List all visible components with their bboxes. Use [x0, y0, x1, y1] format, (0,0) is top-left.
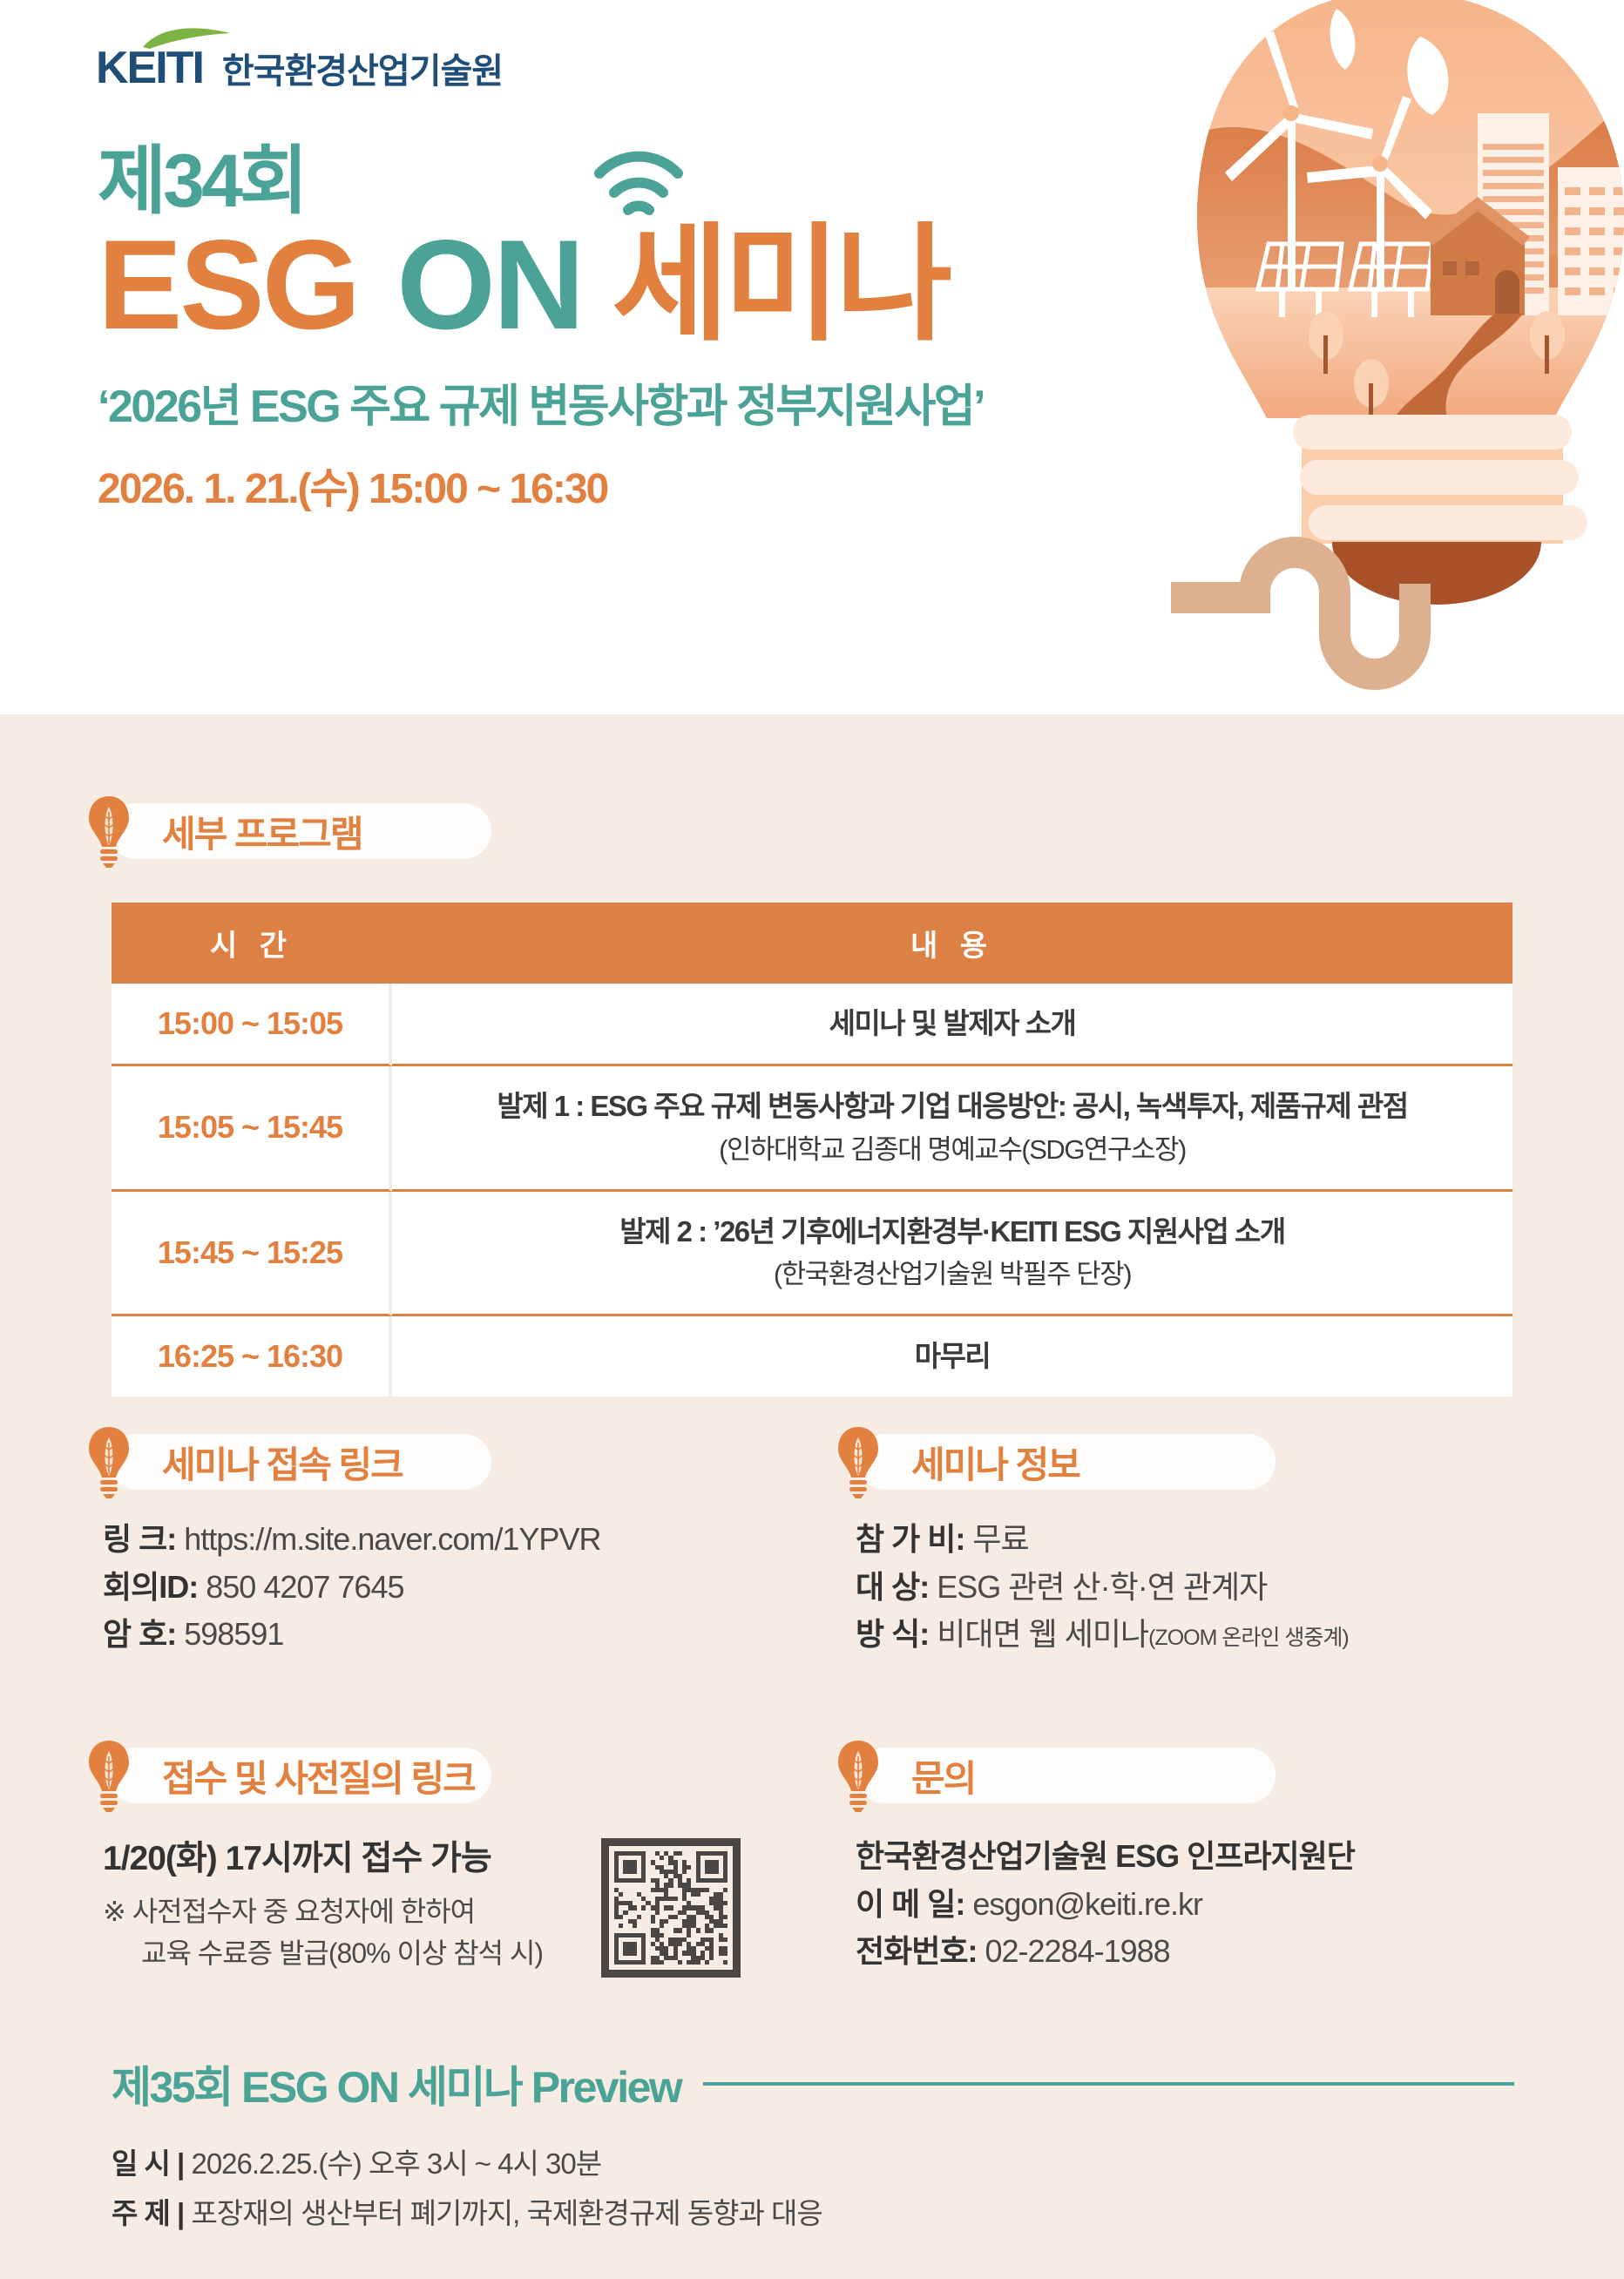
title-seminar: 세미나: [612, 222, 947, 347]
preview-date-row: 일 시 | 2026.2.25.(수) 오후 3시 ~ 4시 30분: [112, 2140, 1514, 2189]
contact-phone-label: 전화번호: [856, 1933, 967, 1969]
target-value: ESG 관련 산·학·연 관계자: [937, 1569, 1267, 1605]
registration-section-header: 접수 및 사전질의 링크: [85, 1739, 491, 1812]
contact-section-title: 문의: [911, 1749, 975, 1802]
contact-phone-value: 02-2284-1988: [985, 1933, 1169, 1969]
row-desc-main: 발제 1 : ESG 주요 규제 변동사항과 기업 대응방안: 공시, 녹색투자…: [497, 1090, 1407, 1122]
program-section-title: 세부 프로그램: [162, 805, 362, 858]
method-note: (ZOOM 온라인 생중계): [1148, 1626, 1349, 1650]
access-meeting-id-row: 회의ID: 850 4207 7645: [103, 1564, 600, 1612]
registration-note-line1: ※ 사전접수자 중 요청자에 한하여: [103, 1890, 543, 1932]
qr-inner: [609, 1846, 733, 1970]
registration-section-title: 접수 및 사전질의 링크: [162, 1749, 475, 1802]
table-header-row: 시 간 내 용: [112, 903, 1512, 984]
row-desc: 발제 2 : ’26년 기후에너지환경부·KEITI ESG 지원사업 소개 (…: [392, 1192, 1512, 1317]
access-link-value[interactable]: https://m.site.naver.com/1YPVR: [184, 1521, 600, 1557]
method-row: 방 식: 비대면 웹 세미나(ZOOM 온라인 생중계): [856, 1611, 1349, 1659]
row-time: 15:00 ~ 15:05: [112, 984, 392, 1066]
preview-topic-value: 포장재의 생산부터 폐기까지, 국제환경규제 동향과 대응: [191, 2197, 822, 2229]
access-meeting-id-value: 850 4207 7645: [206, 1569, 403, 1605]
access-section-title: 세미나 접속 링크: [162, 1436, 403, 1489]
hero-title-block: 제34회 ESG ON 세미나 ‘2026년 ESG 주요 규제 변동사항과 정…: [98, 144, 984, 515]
header-content: 내 용: [392, 903, 1512, 984]
lightbulb-icon: [85, 795, 132, 868]
qr-grid: [614, 1851, 727, 1965]
table-row: 15:05 ~ 15:45 발제 1 : ESG 주요 규제 변동사항과 기업 …: [112, 1066, 1512, 1192]
access-link-label: 링 크: [103, 1521, 166, 1557]
access-link-row: 링 크: https://m.site.naver.com/1YPVR: [103, 1516, 600, 1564]
registration-note: ※ 사전접수자 중 요청자에 한하여 교육 수료증 발급(80% 이상 참석 시…: [103, 1890, 543, 1974]
access-password-value: 598591: [184, 1616, 283, 1652]
row-time: 15:45 ~ 15:25: [112, 1192, 392, 1317]
hero-datetime: 2026. 1. 21.(수) 15:00 ~ 16:30: [98, 454, 984, 515]
fee-row: 참 가 비: 무료: [856, 1516, 1349, 1564]
keiti-logo-text: KEITI: [96, 45, 203, 91]
preview-topic-label: 주 제: [112, 2197, 170, 2229]
lightbulb-icon: [835, 1739, 882, 1812]
seminar-info-details: 참 가 비: 무료 대 상: ESG 관련 산·학·연 관계자 방 식: 비대면…: [856, 1516, 1349, 1659]
preview-section: 제35회 ESG ON 세미나 Preview 일 시 | 2026.2.25.…: [112, 2052, 1514, 2239]
contact-phone-row: 전화번호: 02-2284-1988: [856, 1928, 1355, 1976]
keiti-logo-korean: 한국환경산업기술원: [222, 54, 503, 91]
lightbulb-icon: [85, 1425, 132, 1498]
row-desc-main: 세미나 및 발제자 소개: [829, 1007, 1076, 1039]
fee-label: 참 가 비: [856, 1521, 955, 1557]
access-details: 링 크: https://m.site.naver.com/1YPVR 회의ID…: [103, 1516, 600, 1659]
title-esg: ESG: [98, 222, 358, 347]
contact-email-row: 이 메 일: esgon@keiti.re.kr: [856, 1881, 1355, 1929]
row-desc: 세미나 및 발제자 소개: [392, 984, 1512, 1066]
title-on: ON: [396, 222, 582, 347]
access-password-row: 암 호: 598591: [103, 1611, 600, 1659]
wifi-signal-icon: [591, 139, 687, 222]
hero-banner: KEITI 한국환경산업기술원 제34회 ESG ON 세미나 ‘2026년 E…: [0, 0, 1624, 714]
preview-title: 제35회 ESG ON 세미나 Preview: [112, 2052, 680, 2115]
seminar-info-section-header: 세미나 정보: [835, 1425, 1276, 1498]
registration-note-line2: 교육 수료증 발급(80% 이상 참석 시): [103, 1932, 543, 1974]
row-desc-main: 마무리: [915, 1340, 991, 1372]
target-label: 대 상: [856, 1569, 919, 1605]
access-meeting-id-label: 회의ID: [103, 1569, 188, 1605]
table-row: 15:45 ~ 15:25 발제 2 : ’26년 기후에너지환경부·KEITI…: [112, 1192, 1512, 1317]
registration-qr-code[interactable]: [601, 1838, 741, 1978]
target-row: 대 상: ESG 관련 산·학·연 관계자: [856, 1564, 1349, 1612]
main-title: ESG ON 세미나: [98, 222, 984, 347]
registration-deadline: 1/20(화) 17시까지 접수 가능: [103, 1833, 491, 1884]
contact-email-value[interactable]: esgon@keiti.re.kr: [972, 1886, 1202, 1922]
hero-subtitle: ‘2026년 ESG 주요 규제 변동사항과 정부지원사업’: [98, 369, 984, 435]
row-desc-speaker: (인하대학교 김종대 명예교수(SDG연구소장): [416, 1131, 1488, 1170]
preview-header: 제35회 ESG ON 세미나 Preview: [112, 2052, 1514, 2115]
edition-number: 제34회: [98, 144, 984, 219]
contact-section-header: 문의: [835, 1739, 1276, 1812]
row-desc-speaker: (한국환경산업기술원 박필주 단장): [416, 1255, 1488, 1295]
row-desc: 발제 1 : ESG 주요 규제 변동사항과 기업 대응방안: 공시, 녹색투자…: [392, 1066, 1512, 1192]
lightbulb-icon: [835, 1425, 882, 1498]
preview-date-value: 2026.2.25.(수) 오후 3시 ~ 4시 30분: [191, 2147, 601, 2180]
fee-value: 무료: [972, 1521, 1028, 1557]
green-leaf-swoosh-icon: [141, 28, 232, 51]
table-row: 15:00 ~ 15:05 세미나 및 발제자 소개: [112, 984, 1512, 1066]
preview-divider-line: [703, 2082, 1514, 2086]
preview-topic-row: 주 제 | 포장재의 생산부터 폐기까지, 국제환경규제 동향과 대응: [112, 2189, 1514, 2239]
seminar-info-section-title: 세미나 정보: [911, 1436, 1079, 1489]
row-time: 15:05 ~ 15:45: [112, 1066, 392, 1192]
method-label: 방 식: [856, 1616, 919, 1652]
keiti-wordmark: KEITI: [96, 45, 203, 91]
program-table: 시 간 내 용 15:00 ~ 15:05 세미나 및 발제자 소개 15:05…: [112, 903, 1512, 1396]
method-value: 비대면 웹 세미나: [937, 1616, 1148, 1652]
contact-details: 한국환경산업기술원 ESG 인프라지원단 이 메 일: esgon@keiti.…: [856, 1833, 1355, 1976]
table-row: 16:25 ~ 16:30 마무리: [112, 1316, 1512, 1396]
access-password-label: 암 호: [103, 1616, 166, 1652]
contact-email-label: 이 메 일: [856, 1886, 955, 1922]
row-time: 16:25 ~ 16:30: [112, 1316, 392, 1396]
row-desc-main: 발제 2 : ’26년 기후에너지환경부·KEITI ESG 지원사업 소개: [619, 1215, 1285, 1248]
preview-rows: 일 시 | 2026.2.25.(수) 오후 3시 ~ 4시 30분 주 제 |…: [112, 2140, 1514, 2239]
contact-org: 한국환경산업기술원 ESG 인프라지원단: [856, 1833, 1355, 1881]
eco-lightbulb-illustration: [1171, 0, 1624, 714]
preview-date-label: 일 시: [112, 2147, 170, 2180]
keiti-logo: KEITI 한국환경산업기술원: [96, 45, 503, 91]
lightbulb-icon: [85, 1739, 132, 1812]
access-section-header: 세미나 접속 링크: [85, 1425, 491, 1498]
header-time: 시 간: [112, 903, 392, 984]
program-section-header: 세부 프로그램: [85, 795, 695, 868]
row-desc: 마무리: [392, 1316, 1512, 1396]
